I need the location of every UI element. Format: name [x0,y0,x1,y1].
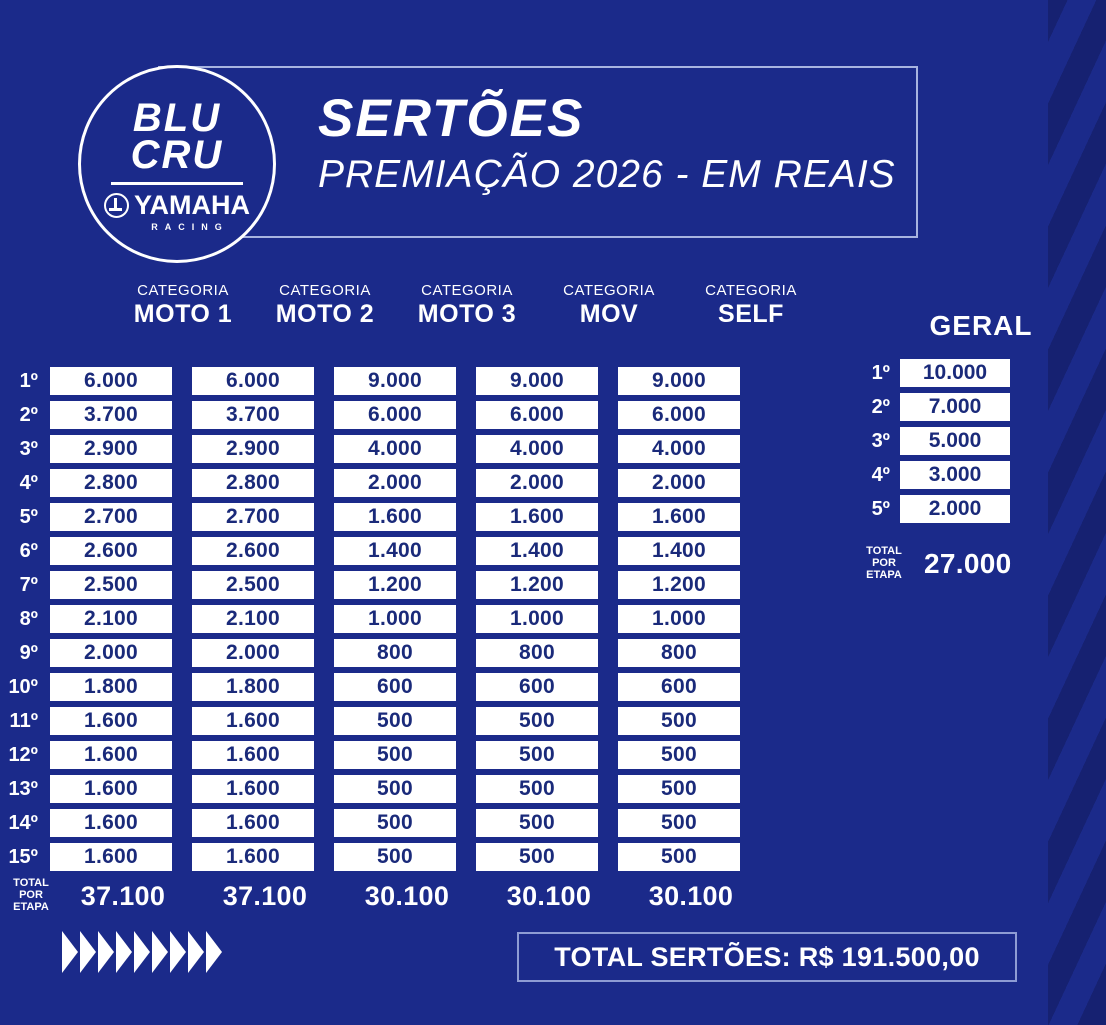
rank-label: 13º [0,778,50,801]
prize-cell: 1.600 [50,741,172,769]
geral-section: GERAL 1º10.0002º7.0003º5.0004º3.0005º2.0… [858,310,1076,582]
rank-label: 10º [0,676,50,699]
table-row: 12º1.6001.600500500500 [0,738,740,772]
row-cells: 1.6001.600500500500 [50,843,740,871]
prize-cell: 1.600 [192,809,314,837]
prize-cell: 500 [618,741,740,769]
prize-cell: 6.000 [50,367,172,395]
table-row: 2º3.7003.7006.0006.0006.000 [0,398,740,432]
column-name: MOV [548,300,670,329]
column-header: CATEGORIAMOTO 3 [406,282,528,329]
prize-cell: 1.600 [192,741,314,769]
prize-cell: 1.000 [476,605,598,633]
prize-cell: 2.800 [192,469,314,497]
prize-cell: 6.000 [618,401,740,429]
column-headers: CATEGORIAMOTO 1CATEGORIAMOTO 2CATEGORIAM… [122,282,812,329]
prize-cell: 1.600 [618,503,740,531]
rank-label: 2º [0,404,50,427]
prize-cell: 2.000 [618,469,740,497]
row-cells: 2.0002.000800800800 [50,639,740,667]
prize-cell: 500 [476,707,598,735]
geral-total-value: 27.000 [924,548,1011,580]
rank-label: 9º [0,642,50,665]
grand-total-banner: TOTAL SERTÕES: R$ 191.500,00 [517,932,1017,982]
column-kicker: CATEGORIA [122,282,244,299]
rank-label: 12º [0,744,50,767]
prize-cell: 6.000 [476,401,598,429]
row-cells: 2.7002.7001.6001.6001.600 [50,503,740,531]
table-row: 4º2.8002.8002.0002.0002.000 [0,466,740,500]
row-cells: 2.5002.5001.2001.2001.200 [50,571,740,599]
row-cells: 1.6001.600500500500 [50,775,740,803]
geral-rank-label: 4º [858,464,900,487]
geral-rank-label: 5º [858,498,900,521]
yamaha-wordmark: YAMAHA [134,192,250,219]
geral-row: 3º5.000 [858,424,1076,458]
chevron-right-icon [62,931,78,973]
column-name: MOTO 2 [264,300,386,329]
prize-cell: 500 [334,741,456,769]
geral-rank-label: 1º [858,362,900,385]
rank-label: 8º [0,608,50,631]
prize-cell: 1.600 [50,775,172,803]
chevron-decoration [62,931,222,973]
prize-cell: 2.700 [192,503,314,531]
chevron-right-icon [206,931,222,973]
row-cells: 1.8001.800600600600 [50,673,740,701]
chevron-right-icon [188,931,204,973]
prize-cell: 500 [618,809,740,837]
prize-cell: 2.000 [192,639,314,667]
geral-rank-label: 3º [858,430,900,453]
prize-cell: 2.900 [192,435,314,463]
prize-cell: 2.800 [50,469,172,497]
column-kicker: CATEGORIA [264,282,386,299]
geral-row: 4º3.000 [858,458,1076,492]
row-cells: 2.1002.1001.0001.0001.000 [50,605,740,633]
chevron-right-icon [80,931,96,973]
prize-cell: 2.900 [50,435,172,463]
prize-cell: 1.200 [476,571,598,599]
column-name: MOTO 3 [406,300,528,329]
prize-cell: 1.800 [192,673,314,701]
table-row: 8º2.1002.1001.0001.0001.000 [0,602,740,636]
prize-cell: 500 [476,775,598,803]
row-cells: 2.9002.9004.0004.0004.000 [50,435,740,463]
prize-cell: 800 [618,639,740,667]
prize-cell: 500 [334,707,456,735]
prize-cell: 1.600 [50,809,172,837]
prize-cell: 1.600 [192,775,314,803]
column-header: CATEGORIAMOTO 1 [122,282,244,329]
racing-wordmark: RACING [104,222,250,232]
geral-total-per-stage-label: TOTALPORETAPA [858,546,910,582]
total-per-stage-label: TOTALPORETAPA [0,878,62,914]
prize-cell: 2.500 [192,571,314,599]
prize-cell: 600 [476,673,598,701]
table-row: 9º2.0002.000800800800 [0,636,740,670]
row-cells: 2.8002.8002.0002.0002.000 [50,469,740,497]
rank-label: 6º [0,540,50,563]
prize-cell: 1.000 [618,605,740,633]
prize-cell: 2.100 [50,605,172,633]
geral-title: GERAL [886,310,1076,342]
prize-cell: 4.000 [334,435,456,463]
column-kicker: CATEGORIA [548,282,670,299]
prize-cell: 1.400 [618,537,740,565]
table-body: 1º6.0006.0009.0009.0009.0002º3.7003.7006… [0,364,740,874]
prize-cell: 1.200 [334,571,456,599]
prize-cell: 1.000 [334,605,456,633]
chevron-right-icon [98,931,114,973]
geral-prize-cell: 2.000 [900,495,1010,523]
page-subtitle: PREMIAÇÃO 2026 - EM REAIS [318,155,896,194]
logo-divider [111,182,243,185]
geral-row: 1º10.000 [858,356,1076,390]
blu-cru-line-1: BLU [97,100,257,137]
prize-table-poster: BLU CRU YAMAHA RACING SERTÕES PREMIAÇÃO … [0,0,1106,1025]
table-row: 14º1.6001.600500500500 [0,806,740,840]
rank-label: 11º [0,710,50,733]
prize-cell: 6.000 [192,367,314,395]
prize-cell: 2.700 [50,503,172,531]
table-row: 11º1.6001.600500500500 [0,704,740,738]
header: BLU CRU YAMAHA RACING SERTÕES PREMIAÇÃO … [0,0,1106,265]
prize-cell: 3.700 [192,401,314,429]
blu-cru-wordmark: BLU CRU [97,100,257,174]
chevron-right-icon [152,931,168,973]
prize-cell: 800 [334,639,456,667]
prize-cell: 500 [476,843,598,871]
rank-label: 14º [0,812,50,835]
yamaha-lockup: YAMAHA [104,192,250,219]
column-total: 37.100 [62,881,184,912]
column-header: CATEGORIAMOTO 2 [264,282,386,329]
table-row: 5º2.7002.7001.6001.6001.600 [0,500,740,534]
column-kicker: CATEGORIA [406,282,528,299]
chevron-right-icon [170,931,186,973]
prize-cell: 2.600 [192,537,314,565]
prize-cell: 1.400 [476,537,598,565]
prize-cell: 500 [618,775,740,803]
table-row: 13º1.6001.600500500500 [0,772,740,806]
prize-cell: 600 [334,673,456,701]
rank-label: 15º [0,846,50,869]
row-cells: 1.6001.600500500500 [50,741,740,769]
rank-label: 1º [0,370,50,393]
totals-values: 37.10037.10030.10030.10030.100 [62,881,752,912]
column-total: 30.100 [488,881,610,912]
column-name: MOTO 1 [122,300,244,329]
chevron-right-icon [134,931,150,973]
prize-cell: 500 [334,809,456,837]
prize-cell: 500 [618,707,740,735]
rank-label: 5º [0,506,50,529]
row-cells: 1.6001.600500500500 [50,809,740,837]
prize-cell: 1.600 [50,707,172,735]
chevron-right-icon [116,931,132,973]
prize-cell: 500 [618,843,740,871]
prize-cell: 1.800 [50,673,172,701]
page-title: SERTÕES [318,92,896,145]
prize-cell: 1.600 [192,843,314,871]
prize-cell: 1.600 [192,707,314,735]
column-kicker: CATEGORIA [690,282,812,299]
header-titles: SERTÕES PREMIAÇÃO 2026 - EM REAIS [318,92,896,194]
prize-cell: 1.400 [334,537,456,565]
prize-cell: 1.600 [334,503,456,531]
prize-cell: 2.100 [192,605,314,633]
rank-label: 3º [0,438,50,461]
table-row: 10º1.8001.800600600600 [0,670,740,704]
geral-rank-label: 2º [858,396,900,419]
table-row: 1º6.0006.0009.0009.0009.000 [0,364,740,398]
prize-cell: 2.500 [50,571,172,599]
totals-row: TOTALPORETAPA 37.10037.10030.10030.10030… [0,874,752,918]
rank-label: 7º [0,574,50,597]
prize-cell: 9.000 [476,367,598,395]
prize-cell: 1.600 [50,843,172,871]
blu-cru-yamaha-logo: BLU CRU YAMAHA RACING [78,65,276,263]
column-total: 30.100 [630,881,752,912]
column-name: SELF [690,300,812,329]
blu-cru-line-2: CRU [97,137,257,174]
prize-cell: 2.000 [50,639,172,667]
row-cells: 6.0006.0009.0009.0009.000 [50,367,740,395]
geral-table-body: 1º10.0002º7.0003º5.0004º3.0005º2.000 [858,356,1076,526]
prize-cell: 2.000 [476,469,598,497]
geral-row: 2º7.000 [858,390,1076,424]
prize-cell: 600 [618,673,740,701]
prize-cell: 4.000 [476,435,598,463]
prize-cell: 4.000 [618,435,740,463]
prize-cell: 3.700 [50,401,172,429]
row-cells: 1.6001.600500500500 [50,707,740,735]
geral-row: 5º2.000 [858,492,1076,526]
prize-cell: 500 [334,775,456,803]
prize-cell: 2.600 [50,537,172,565]
table-row: 6º2.6002.6001.4001.4001.400 [0,534,740,568]
prize-cell: 9.000 [334,367,456,395]
table-row: 7º2.5002.5001.2001.2001.200 [0,568,740,602]
row-cells: 2.6002.6001.4001.4001.400 [50,537,740,565]
prize-cell: 1.200 [618,571,740,599]
column-header: CATEGORIASELF [690,282,812,329]
prize-cell: 9.000 [618,367,740,395]
prize-cell: 1.600 [476,503,598,531]
geral-total-row: TOTALPORETAPA 27.000 [858,546,1076,582]
table-row: 15º1.6001.600500500500 [0,840,740,874]
prize-cell: 500 [476,741,598,769]
table-row: 3º2.9002.9004.0004.0004.000 [0,432,740,466]
column-total: 37.100 [204,881,326,912]
geral-prize-cell: 3.000 [900,461,1010,489]
prize-cell: 6.000 [334,401,456,429]
geral-prize-cell: 7.000 [900,393,1010,421]
rank-label: 4º [0,472,50,495]
column-total: 30.100 [346,881,468,912]
prize-cell: 500 [334,843,456,871]
yamaha-tuning-fork-icon [104,193,129,218]
geral-prize-cell: 10.000 [900,359,1010,387]
prize-cell: 500 [476,809,598,837]
geral-prize-cell: 5.000 [900,427,1010,455]
prize-cell: 800 [476,639,598,667]
row-cells: 3.7003.7006.0006.0006.000 [50,401,740,429]
grand-total-text: TOTAL SERTÕES: R$ 191.500,00 [554,942,980,973]
prize-cell: 2.000 [334,469,456,497]
column-header: CATEGORIAMOV [548,282,670,329]
